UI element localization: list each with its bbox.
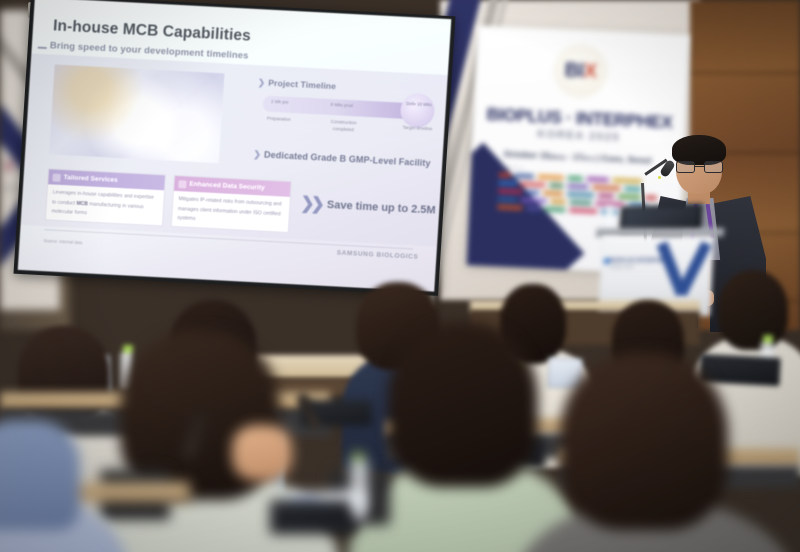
sponsor-logo: [515, 173, 534, 179]
bix-logo-x: X: [583, 60, 597, 84]
water-bottle: [350, 460, 368, 512]
presentation-slide: In-house MCB Capabilities Bring speed to…: [18, 0, 452, 292]
attendee-head: [560, 352, 728, 530]
date-day1-note: (Wed): [550, 155, 566, 162]
slide-brand-logo: SAMSUNG BIOLOGICS: [336, 249, 418, 260]
podium-logo: BIOPLUS·INTERPHEX KOREA 2025: [609, 258, 667, 269]
sponsor-logo: [497, 204, 522, 210]
card-body: Leverages in-house capabilities and expe…: [46, 184, 164, 226]
eyeglasses-icon: [676, 161, 723, 173]
slide-footnote: Source: Internal data: [43, 238, 82, 245]
attendee-hand: [232, 425, 292, 481]
banner-x-mark: X: [4, 158, 13, 175]
logo-separator: ·: [566, 107, 572, 127]
podium-x-graphic: [661, 239, 708, 295]
lock-icon: [178, 180, 186, 188]
sponsor-logo: [521, 197, 547, 203]
slide-lab-photo: [49, 64, 224, 163]
attendee-laptop: [270, 500, 356, 534]
sponsor-logo: [592, 185, 620, 191]
sponsor-logo: [618, 194, 641, 200]
flask-icon: [52, 173, 60, 181]
sponsor-logo: [498, 180, 516, 186]
slide-card-data-security: Enhanced Data Security Mitigates IP-rela…: [171, 175, 292, 233]
projection-screen: In-house MCB Capabilities Bring speed to…: [13, 0, 455, 296]
slide-highlight-text: Save time up to 2.5M: [327, 199, 436, 217]
interphex-logo: INTERPHEX: [575, 108, 672, 132]
sponsor-logo: [570, 200, 592, 206]
bix-logo-text: BI: [564, 59, 584, 83]
sponsor-logo: [499, 172, 511, 178]
sponsor-logo: [498, 196, 517, 202]
sponsor-logo: [569, 208, 597, 214]
sponsor-logo: [544, 207, 565, 213]
sponsor-logo: [498, 188, 522, 194]
double-chevron-right-icon: ❯❯: [300, 194, 322, 215]
attendee-laptop: [699, 354, 780, 386]
sponsor-logo: [567, 184, 588, 190]
sponsor-logo: [624, 186, 641, 192]
attendee-head: [388, 322, 538, 487]
chevron-right-icon: ❯: [253, 149, 261, 159]
sponsor-logo: [526, 190, 539, 196]
sponsor-logo: [568, 176, 583, 182]
bix-logo-badge: BIX: [552, 43, 608, 99]
sponsor-logo: [520, 181, 545, 187]
card-header-label: Enhanced Data Security: [189, 181, 265, 192]
sponsor-logo: [587, 176, 609, 182]
bioplus-logo: BIOPLUS: [486, 104, 562, 127]
sponsor-logo: [551, 199, 566, 205]
attendee-arm: [0, 420, 80, 530]
timeline-node: 8 Wks prod: [328, 102, 354, 110]
timeline-node: Deliv 10 Wks: [406, 101, 432, 109]
sponsor-logo: [613, 178, 642, 184]
date-day2-note: (Fri): [583, 156, 594, 162]
conference-photo-scene: X Coex, Seoul In-house MCB Capabilities …: [0, 0, 800, 552]
sponsor-logo: [538, 174, 564, 180]
timeline-node: 2 Wk pre: [267, 99, 293, 107]
attendee-head: [718, 270, 788, 350]
sponsor-logo: [567, 192, 594, 198]
date-separator: - 17: [565, 151, 583, 162]
chevron-right-icon: ❯: [258, 77, 266, 87]
card-body: Mitigates IP-related risks from outsourc…: [172, 191, 290, 233]
slide-card-tailored-services: Tailored Services Leverages in-house cap…: [45, 168, 166, 226]
sponsor-logo: [549, 183, 563, 189]
date-month-day: October 15: [504, 149, 550, 161]
sponsor-logo: [543, 190, 563, 196]
timeline-label: Construction completed: [321, 119, 366, 135]
sponsor-logo: [526, 206, 540, 212]
card-header-label: Tailored Services: [63, 174, 118, 184]
sponsor-logo: [598, 193, 614, 199]
